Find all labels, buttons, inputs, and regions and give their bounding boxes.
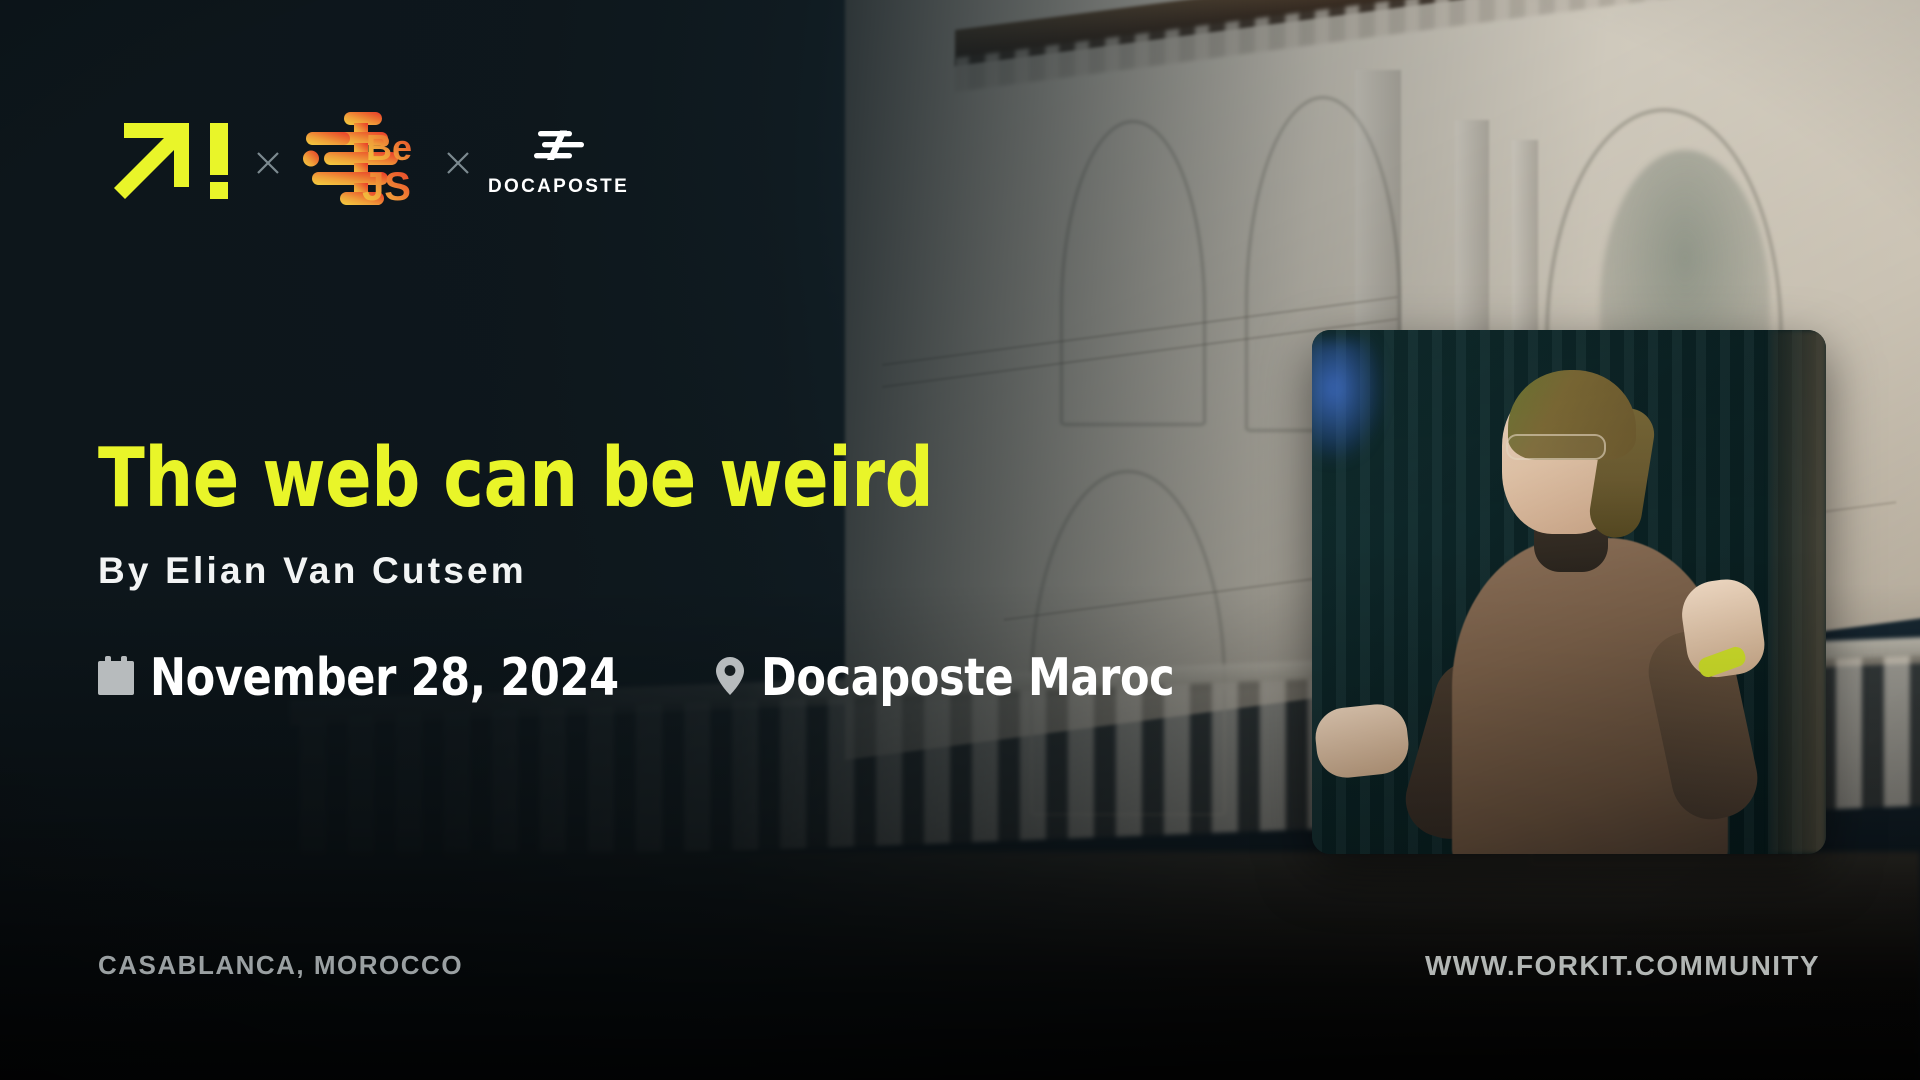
event-date: November 28, 2024 (98, 652, 659, 704)
event-meta-row: November 28, 2024 Docaposte Maroc (98, 652, 1211, 704)
footer-website[interactable]: WWW.FORKIT.COMMUNITY (1425, 952, 1820, 980)
event-date-text: November 28, 2024 (150, 652, 619, 704)
photo-color-grade (1312, 330, 1826, 854)
bejs-logo-text-js: JS (362, 165, 411, 209)
logo-separator-2-icon (428, 150, 488, 176)
talk-title: The web can be weird (98, 438, 933, 520)
footer-location: CASABLANCA, MOROCCO (98, 952, 463, 978)
event-venue-text: Docaposte Maroc (761, 652, 1174, 704)
logo-separator-1-icon (238, 150, 298, 176)
forkit-logo[interactable] (98, 110, 238, 215)
bejs-logo-text-be: Be (366, 127, 412, 168)
calendar-icon (98, 656, 134, 701)
bejs-logo[interactable]: Be JS (298, 108, 428, 217)
partner-logo-bar: Be JS DOCAPOSTE (98, 108, 629, 217)
event-venue: Docaposte Maroc (715, 652, 1210, 704)
speaker-photo (1312, 330, 1826, 854)
docaposte-logo[interactable]: DOCAPOSTE (488, 129, 629, 196)
talk-byline: By Elian Van Cutsem (98, 552, 527, 589)
docaposte-mark-icon (530, 129, 588, 168)
event-poster: Be JS DOCAPOSTE (0, 0, 1920, 1080)
location-pin-icon (715, 656, 745, 701)
docaposte-wordmark: DOCAPOSTE (488, 177, 629, 196)
